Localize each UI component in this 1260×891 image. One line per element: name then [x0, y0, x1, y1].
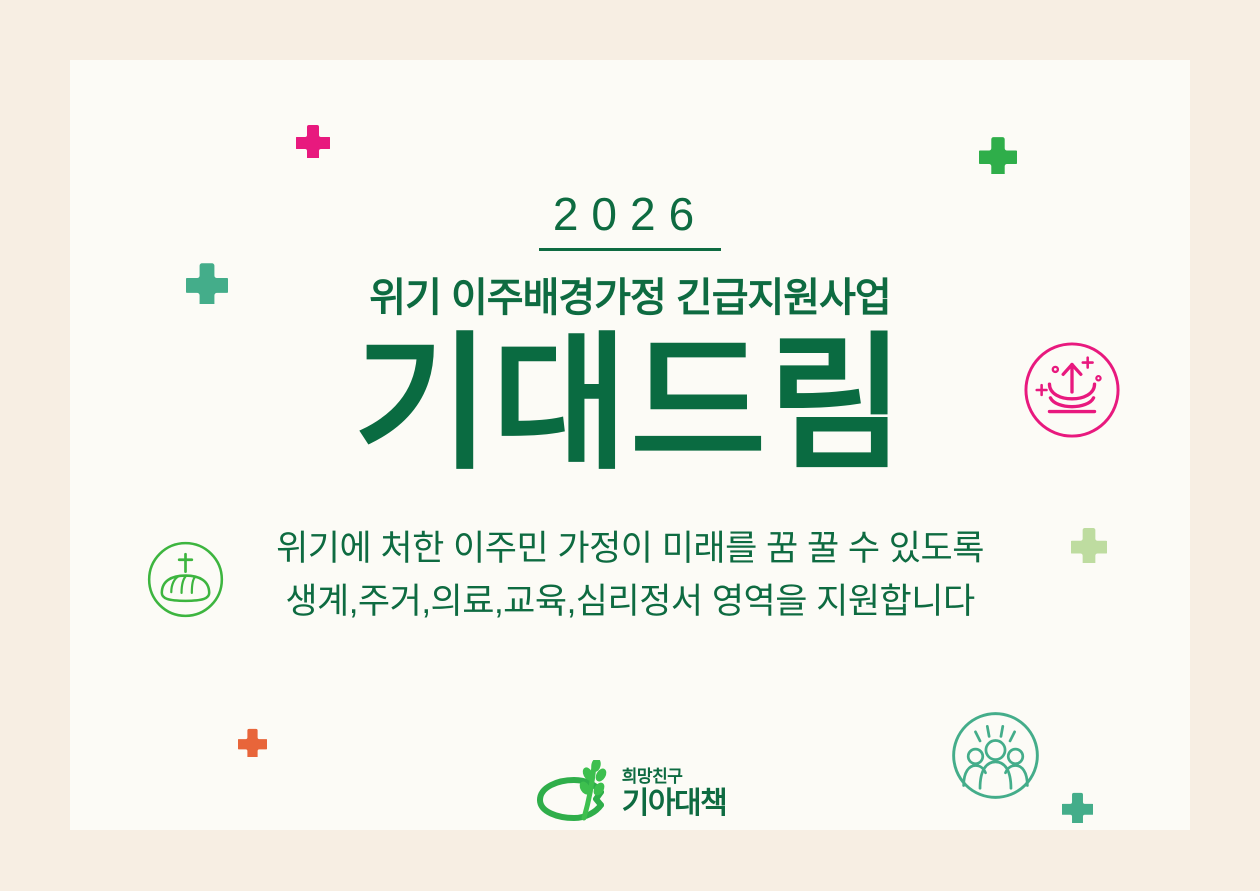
cross-orange-bottom-left [238, 728, 267, 762]
poster-card: 2026 위기 이주배경가정 긴급지원사업 기대드림 위기에 처한 이주민 가정… [70, 60, 1190, 830]
people-group-icon [950, 710, 1041, 806]
logo-inner: 희망친구 기아대책 [534, 760, 726, 827]
year-block: 2026 [70, 190, 1190, 251]
year-label: 2026 [539, 190, 721, 251]
logo-top-text: 희망친구 [622, 768, 726, 785]
logo-main-text: 기아대책 [622, 789, 726, 819]
program-subtitle: 위기 이주배경가정 긴급지원사업 [70, 265, 1190, 323]
fish-wheat-icon [534, 760, 612, 827]
cross-teal-bottom-right [1062, 792, 1093, 828]
cross-green-top-right [979, 136, 1017, 179]
logo-text: 희망친구 기아대책 [622, 768, 726, 819]
poster-root: 2026 위기 이주배경가정 긴급지원사업 기대드림 위기에 처한 이주민 가정… [0, 0, 1260, 891]
cross-pale-green-right [1071, 527, 1107, 568]
smile-arrow-icon [1023, 341, 1121, 444]
description-line-2: 생계,주거,의료,교육,심리정서 영역을 지원합니다 [70, 575, 1190, 628]
description-block: 위기에 처한 이주민 가정이 미래를 꿈 꿀 수 있도록 생계,주거,의료,교육… [70, 522, 1190, 628]
cross-pink-top-left [296, 124, 330, 163]
bread-cross-icon [146, 540, 225, 624]
description-line-1: 위기에 처한 이주민 가정이 미래를 꿈 꿀 수 있도록 [70, 522, 1190, 575]
cross-teal-left [186, 262, 228, 309]
page-title: 기대드림 [70, 322, 1190, 488]
